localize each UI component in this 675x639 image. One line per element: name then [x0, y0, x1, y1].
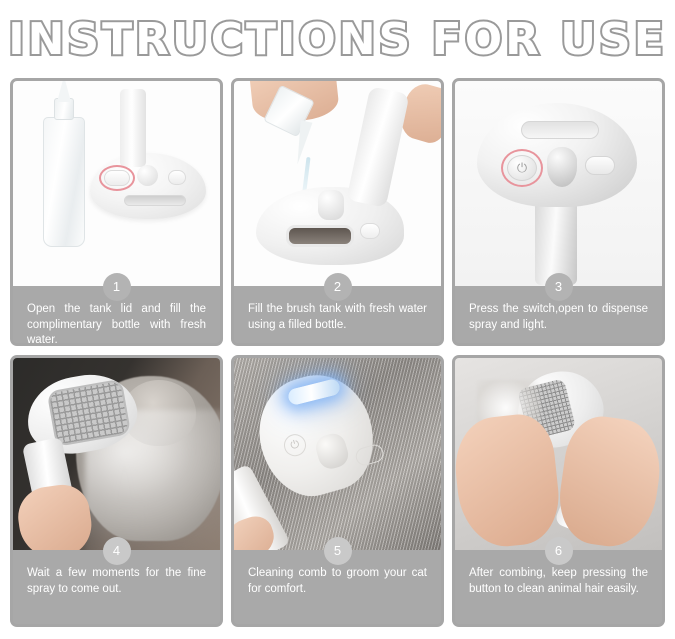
title-bar: INSTRUCTIONS FOR USE [0, 0, 675, 78]
device-base [256, 187, 404, 265]
step-caption-text-1: Open the tank lid and fill the complimen… [27, 303, 206, 346]
steps-grid: 1 Open the tank lid and fill the complim… [0, 78, 675, 637]
bottle-nozzle-icon [57, 81, 71, 102]
spray-knob [137, 165, 158, 186]
device-base [90, 153, 206, 219]
step-caption-text-2: Fill the brush tank with fresh water usi… [248, 303, 427, 331]
step-caption-text-3: Press the switch,open to dispense spray … [469, 303, 648, 331]
brush-pins [47, 379, 132, 447]
release-button [585, 156, 615, 175]
step-panel-4: 4 Wait a few moments for the fine spray … [10, 355, 223, 627]
release-button [360, 223, 380, 239]
step-number-badge-2: 2 [324, 273, 352, 301]
release-button [354, 442, 386, 467]
highlight-ring-icon [99, 165, 135, 191]
step-caption-text-5: Cleaning comb to groom your cat for comf… [248, 567, 427, 595]
step-image-1 [13, 81, 220, 286]
step-number-badge-5: 5 [324, 537, 352, 565]
water-bottle [43, 117, 85, 247]
step-caption-6: 6 After combing, keep pressing the butto… [455, 550, 662, 624]
step-image-2 [234, 81, 441, 286]
step-panel-2: 2 Fill the brush tank with fresh water u… [231, 78, 444, 346]
release-button [168, 170, 186, 185]
instructions-infographic: INSTRUCTIONS FOR USE [0, 0, 675, 639]
step-caption-3: 3 Press the switch,open to dispense spra… [455, 286, 662, 343]
device-handle [346, 86, 409, 208]
step-number-badge-3: 3 [545, 273, 573, 301]
step-caption-text-4: Wait a few moments for the fine spray to… [27, 567, 206, 595]
spray-knob [547, 147, 577, 187]
highlight-ring-icon [501, 149, 543, 187]
tank-cap [318, 190, 344, 220]
power-button-icon: ⏻ [281, 432, 308, 459]
step-number-badge-6: 6 [545, 537, 573, 565]
step-caption-5: 5 Cleaning comb to groom your cat for co… [234, 550, 441, 624]
step-panel-3: ⏻ 3 Press the switch,open to dispense sp… [452, 78, 665, 346]
hand-pulling-hair [455, 411, 564, 550]
water-tank-window [124, 195, 186, 206]
step-image-4 [13, 358, 220, 550]
step-caption-1: 1 Open the tank lid and fill the complim… [13, 286, 220, 346]
step-caption-2: 2 Fill the brush tank with fresh water u… [234, 286, 441, 343]
step-number-badge-1: 1 [103, 273, 131, 301]
step-number-badge-4: 4 [103, 537, 131, 565]
water-tank-window [286, 225, 354, 247]
step-panel-6: 6 After combing, keep pressing the butto… [452, 355, 665, 627]
step-panel-5: ⏻ 5 Cleaning comb to groom your cat for … [231, 355, 444, 627]
step-caption-text-6: After combing, keep pressing the button … [469, 567, 648, 595]
mist-vent [521, 121, 599, 139]
spray-knob [313, 431, 351, 472]
step-caption-4: 4 Wait a few moments for the fine spray … [13, 550, 220, 624]
device-handle [120, 89, 146, 167]
device-head: ⏻ [477, 103, 637, 207]
step-image-5: ⏻ [234, 358, 441, 550]
step-image-3: ⏻ [455, 81, 662, 286]
step-panel-1: 1 Open the tank lid and fill the complim… [10, 78, 223, 346]
step-image-6 [455, 358, 662, 550]
page-title: INSTRUCTIONS FOR USE [8, 14, 667, 65]
